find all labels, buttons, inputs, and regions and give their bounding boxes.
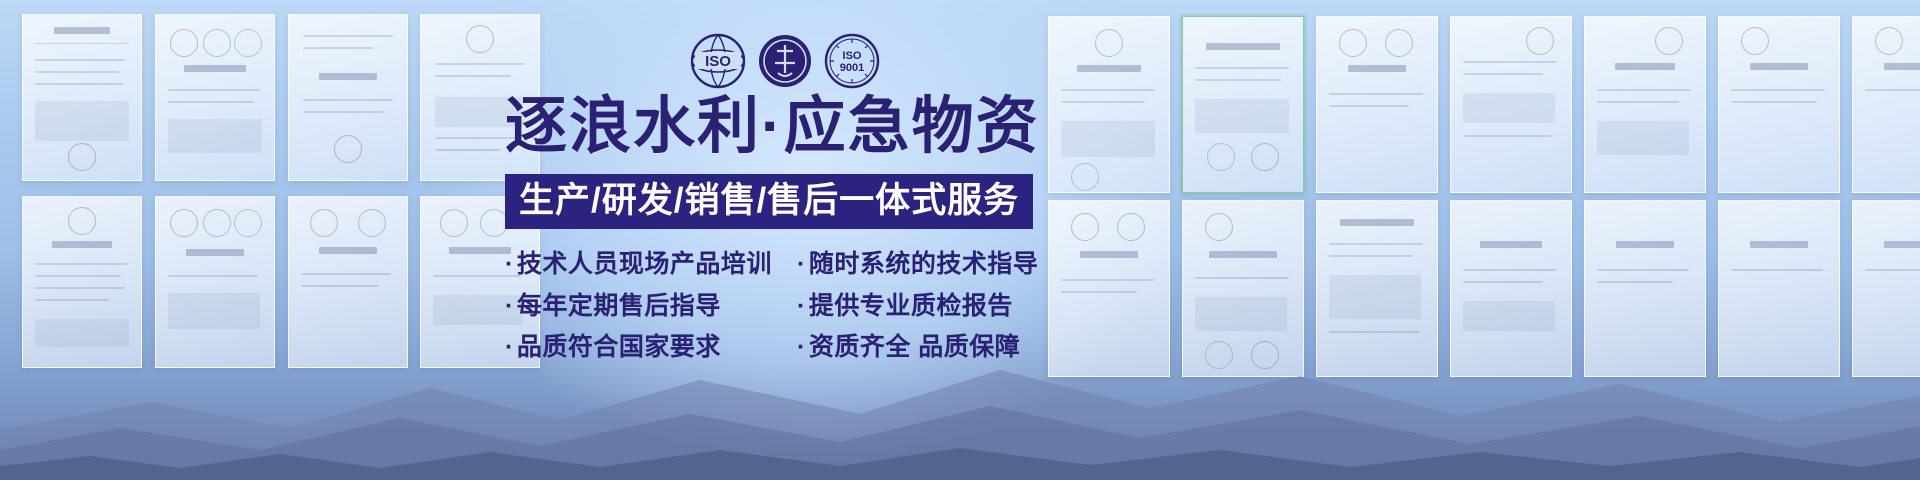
list-item: ·每年定期售后指导 — [505, 293, 797, 321]
iso-badge: ISO — [690, 33, 746, 89]
bullet-icon: · — [797, 292, 806, 320]
list-item: ·随时系统的技术指导 — [797, 251, 1038, 279]
svg-text:ISO: ISO — [843, 50, 862, 62]
page-title: 逐浪水利·应急物资 — [505, 96, 1075, 158]
certificate-thumbnail — [288, 196, 408, 368]
list-item: ·技术人员现场产品培训 — [505, 251, 797, 279]
list-item-label: 品质符合国家要求 — [517, 333, 721, 361]
bullet-icon: · — [797, 333, 806, 361]
list-item-label: 随时系统的技术指导 — [809, 250, 1039, 278]
iso-9001-badge: ISO 9001 — [824, 33, 880, 89]
promo-banner: ISO ISO 9001 逐浪水利·应急物资 — [0, 0, 1920, 480]
certificate-thumbnail — [1718, 16, 1840, 193]
certificate-thumbnail — [22, 14, 142, 181]
svg-text:9001: 9001 — [840, 62, 864, 74]
bullet-icon: · — [505, 333, 514, 361]
certificate-thumbnail — [1316, 200, 1438, 377]
feature-list: ·技术人员现场产品培训 ·随时系统的技术指导 ·每年定期售后指导 ·提供专业质检… — [505, 251, 1065, 362]
certificate-thumbnail — [22, 196, 142, 368]
bullet-icon: · — [505, 250, 514, 278]
certificate-thumbnail — [1584, 200, 1706, 377]
certificate-thumbnail — [1182, 200, 1304, 377]
list-item: ·提供专业质检报告 — [797, 293, 1013, 321]
list-item-label: 每年定期售后指导 — [517, 292, 721, 320]
certificate-thumbnail — [155, 196, 275, 368]
certificate-thumbnail — [288, 14, 408, 181]
certificate-thumbnail — [1450, 200, 1572, 377]
subtitle-bar: 生产/研发/销售/售后一体式服务 — [505, 174, 1033, 229]
certificate-thumbnail — [1450, 16, 1572, 193]
banner-content: 逐浪水利·应急物资 生产/研发/销售/售后一体式服务 ·技术人员现场产品培训 ·… — [505, 96, 1075, 376]
list-item-label: 技术人员现场产品培训 — [517, 250, 772, 278]
certificate-thumbnail — [1316, 16, 1438, 193]
feature-row: ·品质符合国家要求 ·资质齐全 品质保障 — [505, 334, 1065, 362]
certificate-thumbnail — [155, 14, 275, 181]
list-item: ·资质齐全 品质保障 — [797, 334, 1020, 362]
bullet-icon: · — [505, 292, 514, 320]
list-item-label: 提供专业质检报告 — [809, 292, 1013, 320]
certificate-thumbnail — [1852, 16, 1920, 193]
certificate-thumbnail — [1852, 200, 1920, 377]
certification-badge-row: ISO ISO 9001 — [690, 30, 880, 92]
certificate-thumbnail — [1584, 16, 1706, 193]
svg-text:ISO: ISO — [705, 53, 731, 70]
feature-row: ·每年定期售后指导 ·提供专业质检报告 — [505, 293, 1065, 321]
certificate-thumbnail — [1718, 200, 1840, 377]
certificate-thumbnail — [1182, 16, 1304, 193]
bullet-icon: · — [797, 250, 806, 278]
list-item-label: 资质齐全 品质保障 — [809, 333, 1020, 361]
feature-row: ·技术人员现场产品培训 ·随时系统的技术指导 — [505, 251, 1065, 279]
list-item: ·品质符合国家要求 — [505, 334, 797, 362]
quality-inspection-badge — [757, 33, 813, 89]
